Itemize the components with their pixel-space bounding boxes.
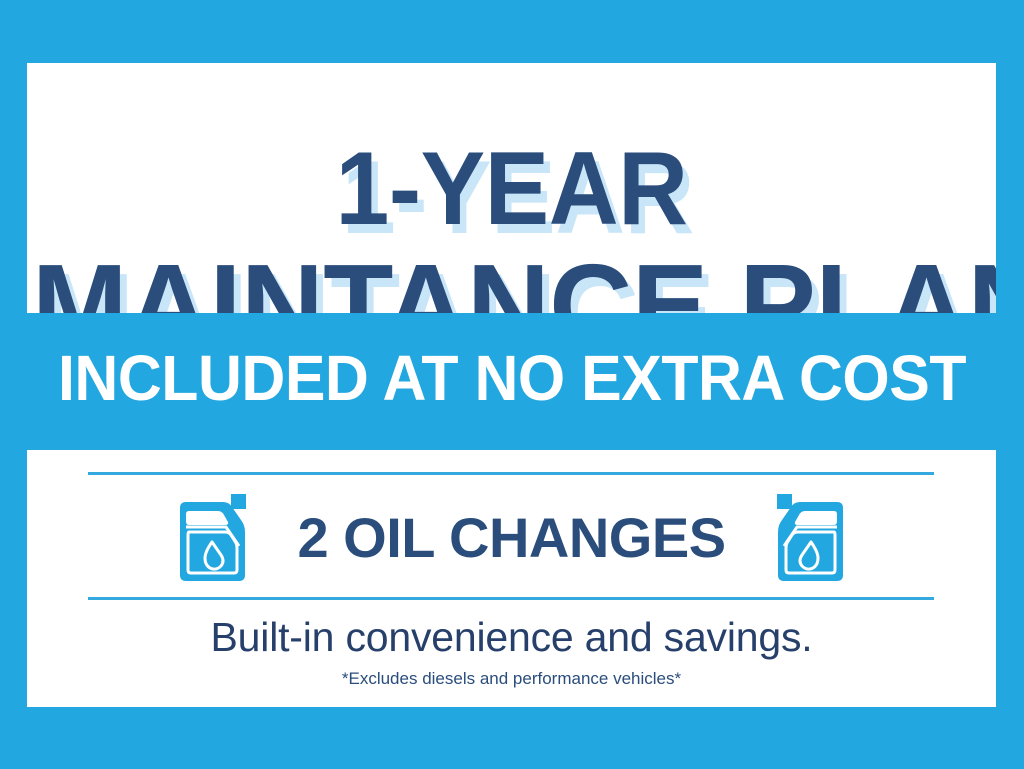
fineprint-disclaimer: *Excludes diesels and performance vehicl… — [27, 669, 996, 689]
promo-poster: 1-YEAR MAINTANCE PLAN INCLUDED AT NO EXT… — [0, 0, 1024, 769]
tagline: Built-in convenience and savings. — [27, 613, 996, 661]
details-card: 2 OIL CHANGES Built-in convenience and s… — [27, 450, 996, 707]
headline-line-1: 1-YEAR — [61, 137, 962, 241]
subtitle-banner: INCLUDED AT NO EXTRA COST — [26, 346, 999, 410]
headline-card: 1-YEAR MAINTANCE PLAN — [27, 63, 996, 313]
divider-top — [88, 472, 934, 475]
offer-row: 2 OIL CHANGES — [27, 488, 996, 588]
oil-can-icon — [772, 494, 844, 582]
headline-line-2: MAINTANCE PLAN — [32, 247, 991, 313]
offer-label: 2 OIL CHANGES — [297, 510, 725, 566]
divider-bottom — [88, 597, 934, 600]
oil-can-icon — [179, 494, 251, 582]
